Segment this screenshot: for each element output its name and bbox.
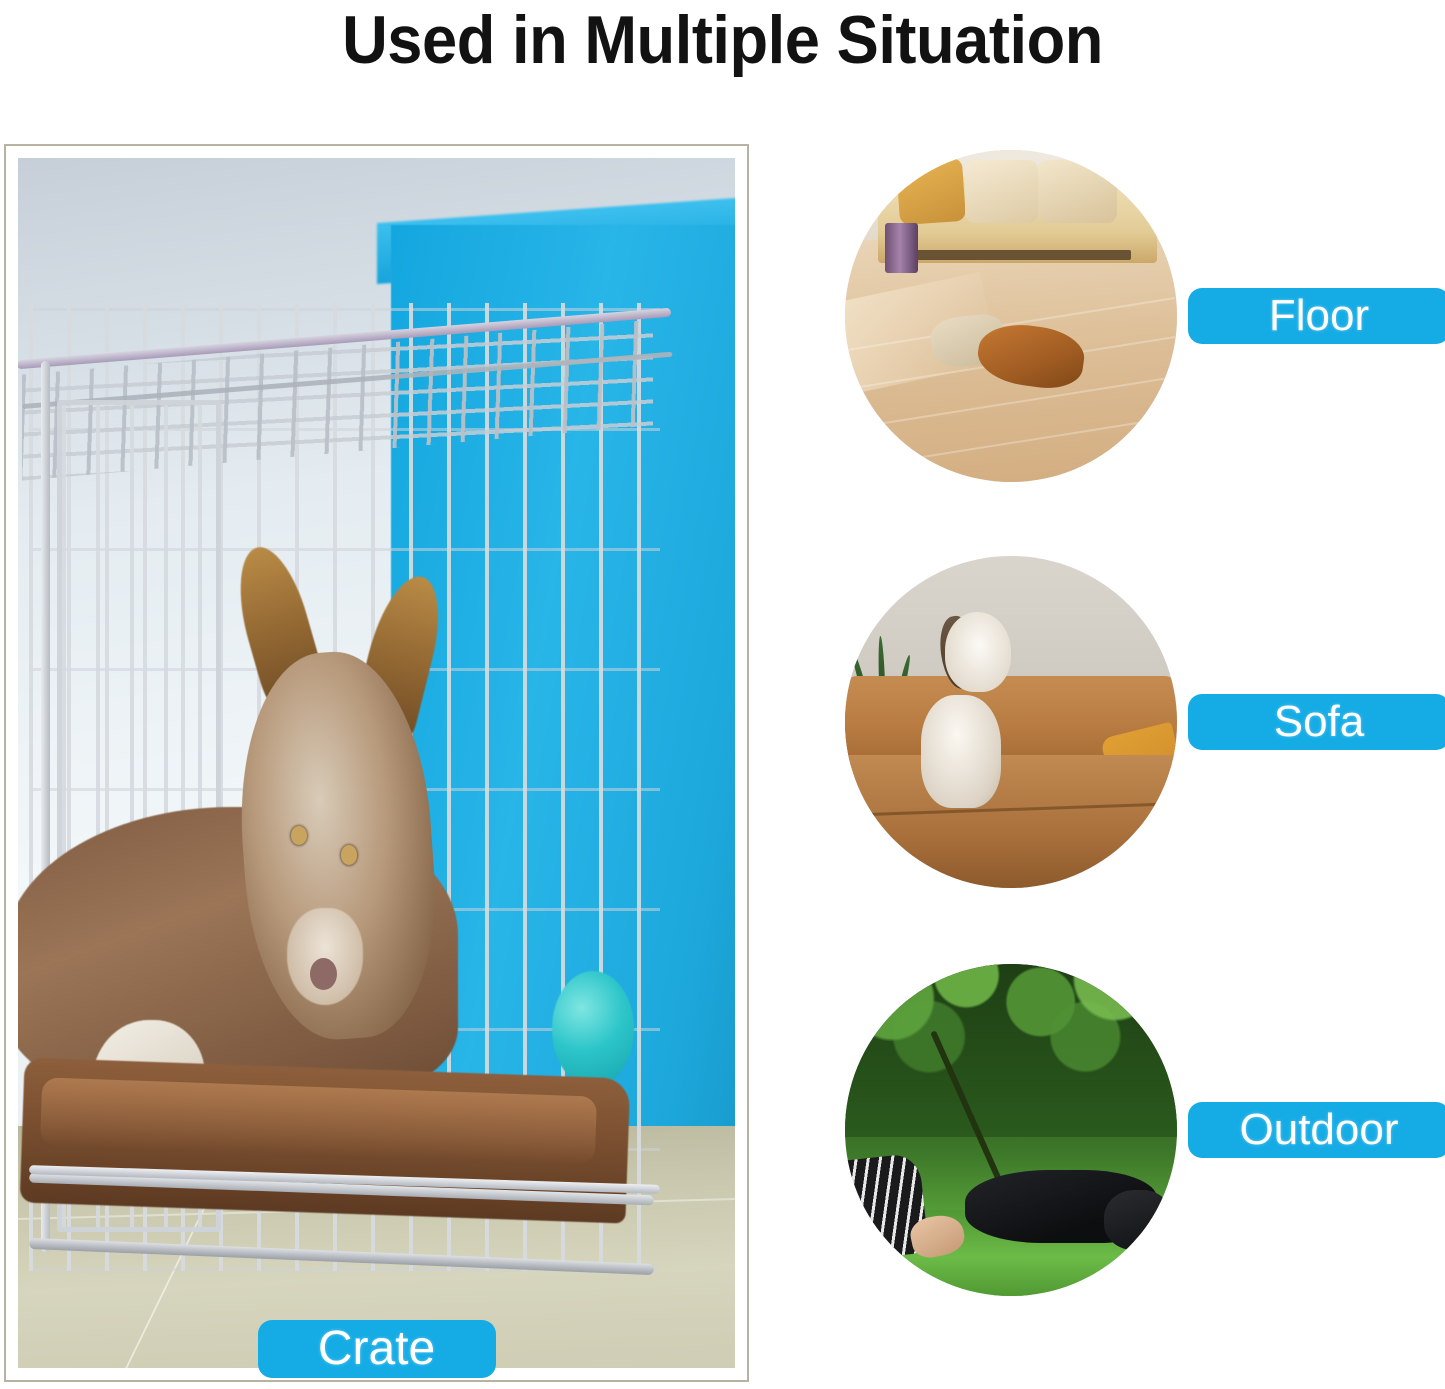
badge-sofa: Sofa [1188,694,1445,750]
crate-photo-frame [4,144,749,1382]
wire-crate [29,303,660,1271]
dog-right-eye [341,845,357,864]
outdoor-scene-illustration [845,964,1177,1296]
situation-row-sofa: Sofa [820,552,1445,892]
sofa-scene-couch-seat [845,755,1177,888]
dog-snout [287,908,363,1005]
dog-left-eye [291,826,307,845]
infographic-page: Used in Multiple Situation [0,0,1445,1389]
sofa-scene-dog-head [945,612,1011,692]
situation-photo-outdoor [845,964,1177,1296]
page-title: Used in Multiple Situation [51,0,1395,84]
situation-row-floor: Floor [820,146,1445,486]
sofa-scene-illustration [845,556,1177,888]
crate-scene-illustration [18,158,735,1368]
outdoor-scene-tree-canopy [845,964,1177,1137]
floor-scene-vase [885,223,918,273]
floor-scene-plank-4 [847,416,1175,470]
outdoor-scene-dog-head [1104,1190,1170,1250]
crate-caption-wrap: Crate [4,1320,749,1378]
badge-floor: Floor [1188,288,1445,344]
situation-row-outdoor: Outdoor [820,960,1445,1300]
sofa-scene-dog-body [921,695,1001,808]
floor-scene-illustration [845,150,1177,482]
badge-outdoor: Outdoor [1188,1102,1445,1158]
floor-scene-cushion-2 [965,160,1038,223]
floor-scene-cushion-1 [896,158,967,226]
situation-photo-sofa [845,556,1177,888]
floor-scene-cushion-3 [1038,160,1118,223]
badge-crate: Crate [258,1320,496,1378]
floor-scene-sofa-frame [885,250,1131,260]
crate-photo [18,158,735,1368]
situation-photo-floor [845,150,1177,482]
situations-column: Floor [820,144,1445,1344]
